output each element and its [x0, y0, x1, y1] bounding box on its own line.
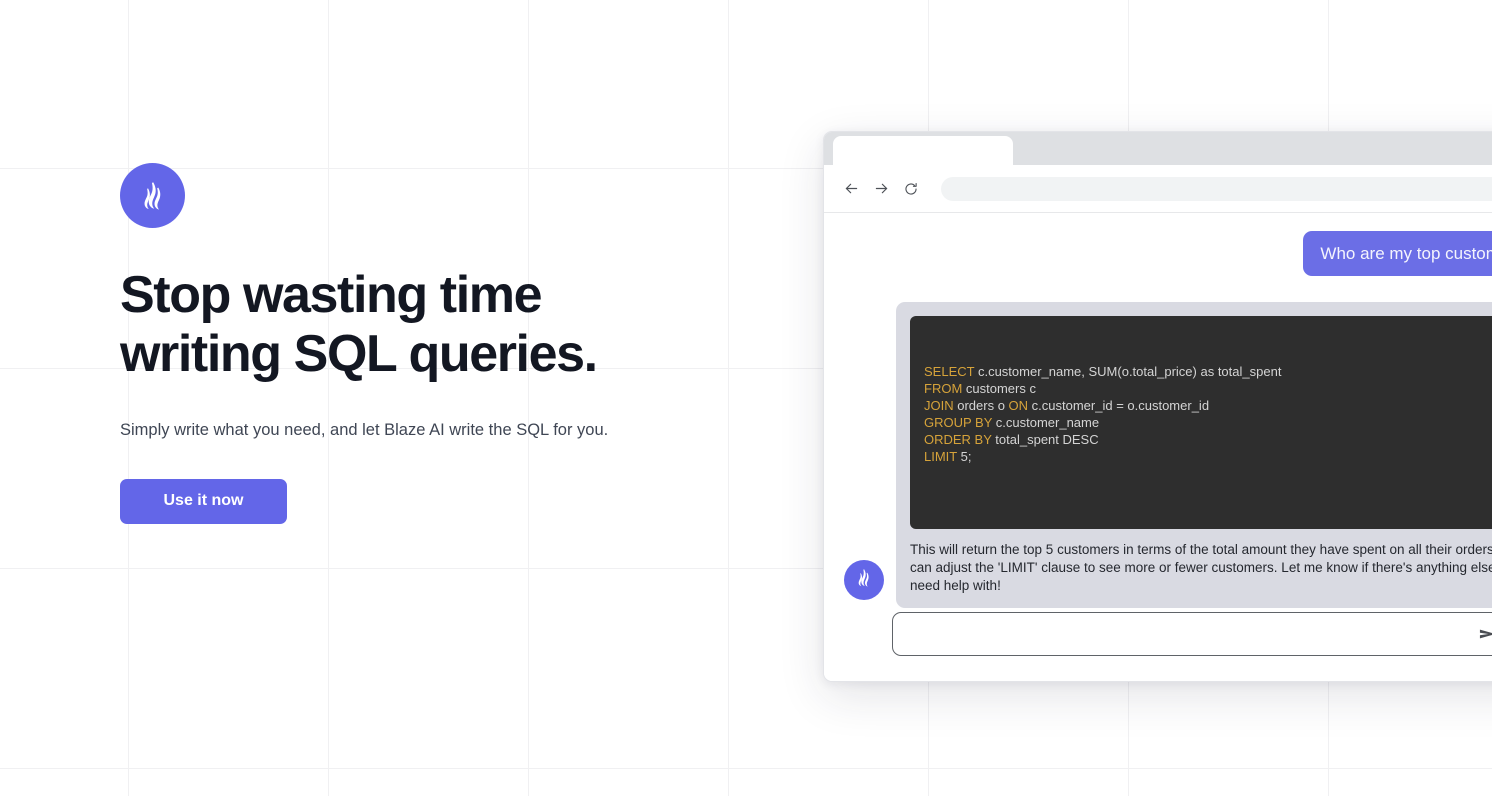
- browser-tabstrip: [824, 132, 1492, 165]
- flame-icon: [852, 566, 876, 595]
- assistant-message-bubble: SELECT c.customer_name, SUM(o.total_pric…: [896, 302, 1492, 608]
- sql-code-line: FROM customers c: [924, 380, 1492, 397]
- message-input[interactable]: [907, 613, 1472, 655]
- hero-title-line-2: writing SQL queries.: [120, 325, 597, 383]
- user-message-bubble: Who are my top customers?: [1303, 231, 1492, 276]
- sql-code-line: ORDER BY total_spent DESC: [924, 431, 1492, 448]
- back-button[interactable]: [838, 176, 864, 202]
- use-it-now-button[interactable]: Use it now: [120, 479, 287, 524]
- hero-subtitle: Simply write what you need, and let Blaz…: [120, 419, 820, 442]
- sql-code-line: SELECT c.customer_name, SUM(o.total_pric…: [924, 363, 1492, 380]
- send-icon: [1477, 623, 1492, 645]
- url-input[interactable]: [941, 177, 1492, 201]
- message-composer: [892, 612, 1492, 656]
- arrow-right-icon: [873, 180, 890, 197]
- forward-button[interactable]: [868, 176, 894, 202]
- sql-code-text: SELECT c.customer_name, SUM(o.total_pric…: [924, 363, 1492, 466]
- chat-panel: Who are my top customers? SELECT c.custo: [824, 213, 1492, 681]
- hero-section: Stop wasting time writing SQL queries. S…: [120, 163, 820, 524]
- user-message-row: Who are my top customers?: [824, 231, 1492, 276]
- browser-toolbar: [824, 165, 1492, 213]
- browser-window: Who are my top customers? SELECT c.custo: [823, 131, 1492, 682]
- avatar: [844, 560, 884, 600]
- brand-logo: [120, 163, 185, 228]
- hero-title-line-1: Stop wasting time: [120, 266, 541, 324]
- send-button[interactable]: [1472, 618, 1492, 650]
- sql-code-line: JOIN orders o ON c.customer_id = o.custo…: [924, 397, 1492, 414]
- arrow-left-icon: [843, 180, 860, 197]
- reload-icon: [903, 181, 919, 197]
- flame-icon: [134, 177, 172, 215]
- sql-code-block: SELECT c.customer_name, SUM(o.total_pric…: [910, 316, 1492, 529]
- sql-code-line: GROUP BY c.customer_name: [924, 414, 1492, 431]
- browser-tab[interactable]: [833, 136, 1013, 165]
- sql-code-line: LIMIT 5;: [924, 448, 1492, 465]
- page-root: Stop wasting time writing SQL queries. S…: [0, 0, 1492, 796]
- assistant-explanation: This will return the top 5 customers in …: [910, 541, 1492, 594]
- assistant-message-row: SELECT c.customer_name, SUM(o.total_pric…: [824, 276, 1492, 608]
- page-title: Stop wasting time writing SQL queries.: [120, 266, 740, 384]
- reload-button[interactable]: [898, 176, 924, 202]
